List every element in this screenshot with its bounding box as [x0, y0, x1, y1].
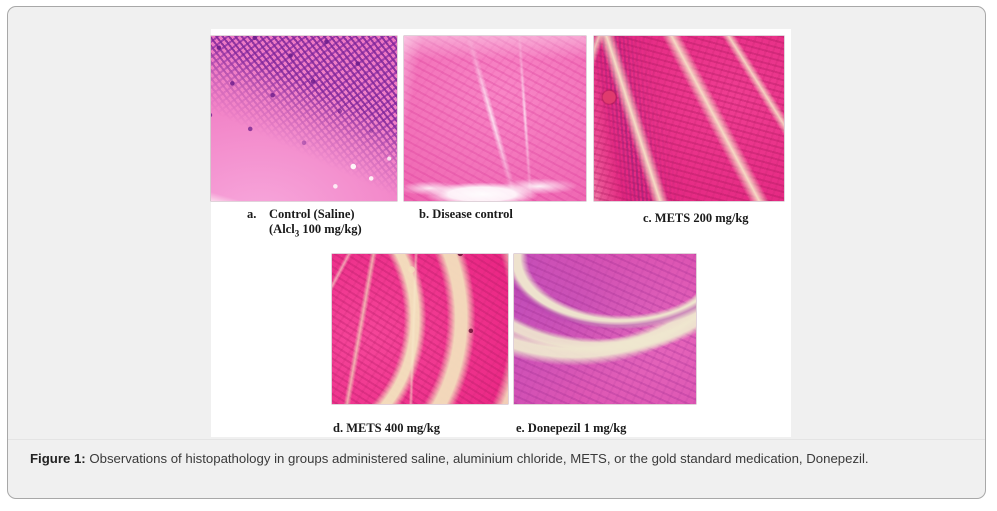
micrograph-row-top — [211, 36, 784, 201]
white-fissure-layer — [211, 36, 397, 201]
figure-caption-text: Observations of histopathology in groups… — [86, 451, 869, 466]
panel-c — [594, 36, 784, 201]
figure-caption: Figure 1: Observations of histopathology… — [30, 448, 968, 469]
panel-a — [211, 36, 397, 201]
micrograph-row-bottom — [332, 254, 696, 404]
dark-speck-layer — [332, 254, 508, 404]
figure-card: a. Control (Saline)(Alcl3 100 mg/kg) b. … — [7, 6, 986, 499]
pale-edge-layer — [514, 254, 696, 404]
histology-micrograph-disease-control — [404, 36, 586, 201]
histology-micrograph-donepezil-1 — [514, 254, 696, 404]
panel-b — [404, 36, 586, 201]
panel-a-marker: a. — [247, 207, 269, 242]
panel-b-caption: b. Disease control — [419, 207, 513, 222]
figure-caption-label: Figure 1: — [30, 451, 86, 466]
panel-e — [514, 254, 696, 404]
basal-cavity-layer — [404, 36, 586, 201]
histology-micrograph-mets-200 — [594, 36, 784, 201]
vessel-blob-layer — [594, 36, 784, 201]
panel-a-label-line2: (Alcl3 100 mg/kg) — [269, 222, 362, 236]
panel-a-label-line1: Control (Saline) — [269, 207, 355, 221]
figure-image-plate: a. Control (Saline)(Alcl3 100 mg/kg) b. … — [211, 29, 791, 437]
panel-d — [332, 254, 508, 404]
histology-micrograph-mets-400 — [332, 254, 508, 404]
panel-c-caption: c. METS 200 mg/kg — [643, 211, 749, 226]
panel-a-caption: a. Control (Saline)(Alcl3 100 mg/kg) — [247, 207, 362, 242]
caption-divider — [8, 439, 985, 440]
panel-e-caption: e. Donepezil 1 mg/kg — [516, 421, 626, 436]
panel-d-caption: d. METS 400 mg/kg — [333, 421, 440, 436]
histology-micrograph-control-saline — [211, 36, 397, 201]
panel-a-label: Control (Saline)(Alcl3 100 mg/kg) — [269, 207, 362, 242]
